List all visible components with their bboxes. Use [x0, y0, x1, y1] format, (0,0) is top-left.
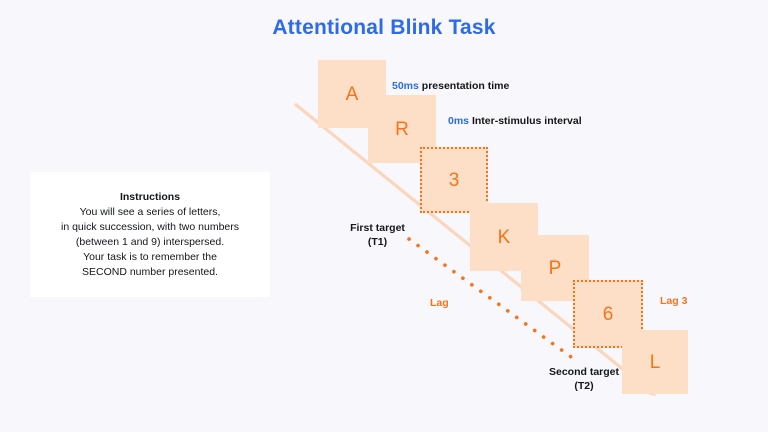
instructions-line: (between 1 and 9) interspersed.	[76, 235, 224, 250]
instructions-line: You will see a series of letters,	[80, 205, 221, 220]
slide-canvas: Attentional Blink Task A R 3 K P 6 L 50m…	[0, 0, 768, 432]
presentation-time-value: 50ms	[392, 80, 419, 92]
first-target-label: First target (T1)	[325, 221, 430, 249]
instructions-line: in quick succession, with two numbers	[61, 220, 239, 235]
interstimulus-interval-annotation: 0ms Inter-stimulus interval	[448, 114, 582, 128]
second-target-label: Second target (T2)	[524, 365, 644, 393]
presentation-time-annotation: 50ms presentation time	[392, 79, 509, 93]
stimulus-glyph: R	[395, 120, 409, 139]
instructions-line: SECOND number presented.	[82, 265, 218, 280]
isi-label: Inter-stimulus interval	[472, 115, 582, 127]
first-target-line2: (T1)	[325, 235, 430, 249]
lag-count-label: Lag 3	[660, 294, 687, 308]
stimulus-glyph: A	[346, 85, 359, 104]
second-target-line2: (T2)	[524, 379, 644, 393]
instructions-line: Your task is to remember the	[83, 250, 217, 265]
second-target-line1: Second target	[524, 365, 644, 379]
isi-value: 0ms	[448, 115, 469, 127]
stimulus-glyph: L	[650, 353, 661, 372]
page-title: Attentional Blink Task	[0, 16, 768, 40]
instructions-panel: Instructions You will see a series of le…	[30, 172, 270, 297]
lag-label: Lag	[430, 296, 449, 310]
instructions-heading: Instructions	[120, 190, 180, 205]
presentation-time-label: presentation time	[422, 80, 510, 92]
stimulus-glyph: 3	[449, 171, 460, 190]
stimulus-glyph: 6	[603, 305, 614, 324]
first-target-line1: First target	[325, 221, 430, 235]
stimulus-glyph: P	[549, 259, 562, 278]
stimulus-glyph: K	[498, 228, 511, 247]
